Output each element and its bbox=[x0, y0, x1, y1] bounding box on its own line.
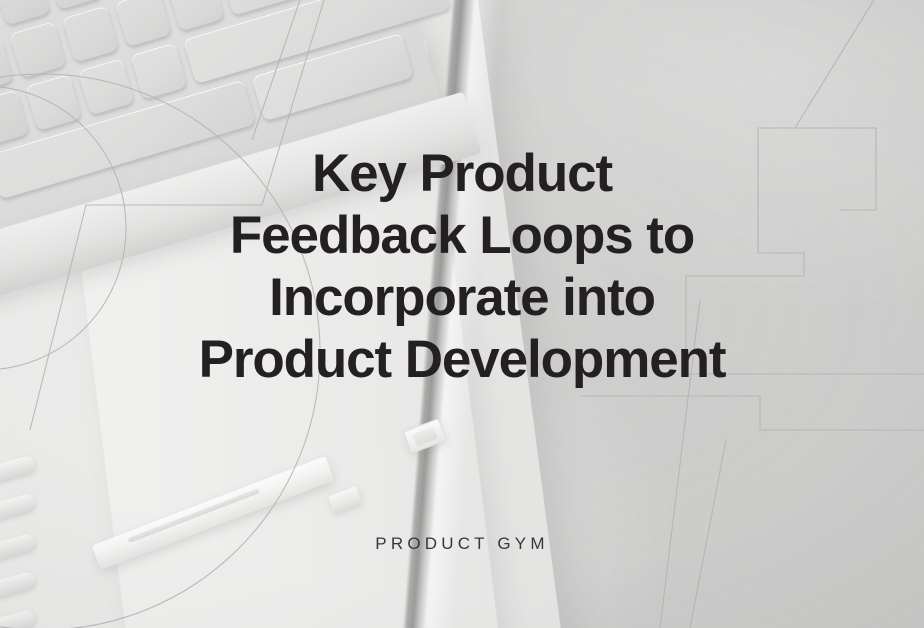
headline-line-4: Product Development bbox=[67, 329, 857, 391]
brand-name: PRODUCT GYM bbox=[0, 534, 924, 554]
headline-line-1: Key Product bbox=[67, 143, 857, 205]
text-content: Key Product Feedback Loops to Incorporat… bbox=[0, 0, 924, 628]
headline-line-2: Feedback Loops to bbox=[67, 205, 857, 267]
headline-line-3: Incorporate into bbox=[67, 267, 857, 329]
blog-header-card: Key Product Feedback Loops to Incorporat… bbox=[0, 0, 924, 628]
page-title: Key Product Feedback Loops to Incorporat… bbox=[67, 143, 857, 391]
